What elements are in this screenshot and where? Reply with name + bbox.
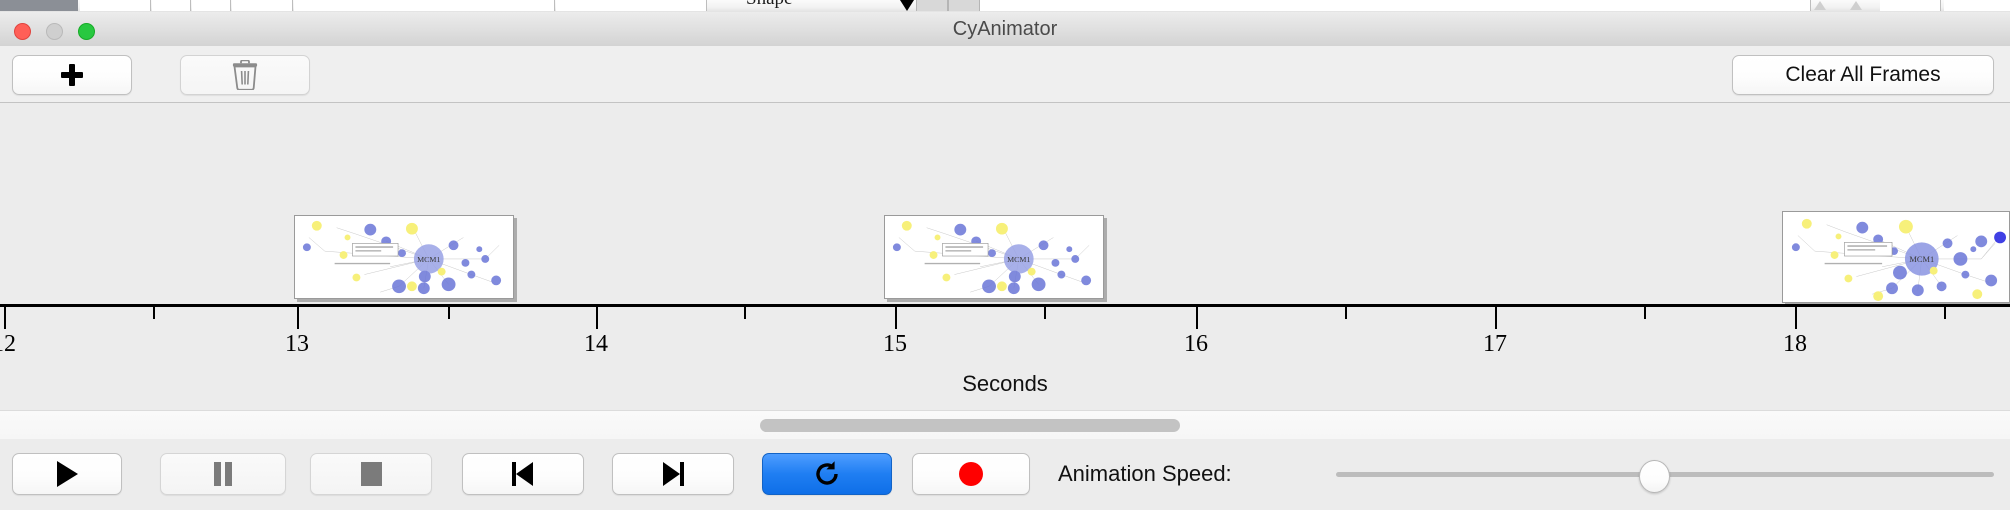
add-frame-button[interactable] [12,55,132,95]
loop-button[interactable] [762,453,892,495]
background-strip-segment [232,0,293,11]
axis-tick-label: 14 [584,331,608,358]
scrollbar-thumb[interactable] [760,419,1180,432]
axis-tick-minor [1644,307,1646,319]
timeline-axis-line [0,304,2010,307]
background-cursor-arrow [900,0,914,11]
skip-to-end-button[interactable] [612,453,734,495]
background-strip-segment [980,0,1811,11]
play-button[interactable] [12,453,122,495]
axis-tick-label: 17 [1483,331,1507,358]
background-strip-button [916,0,948,11]
background-strip-segment [556,0,707,11]
timeline-panel[interactable]: MCM1 [0,103,2010,410]
background-window-titlebar-chunk [0,0,78,11]
axis-title: Seconds [0,371,2010,397]
toolbar: Clear All Frames [0,46,2010,103]
background-strip-triangle [1848,0,1864,11]
hub-node-label: MCM1 [1007,255,1030,264]
axis-tick-major [895,307,897,329]
frame-thumbnail[interactable]: MCM1 [884,215,1104,299]
titlebar: CyAnimator [0,12,2010,47]
background-strip-segment: Shape [294,0,555,11]
loop-icon [813,460,841,488]
pause-icon [213,462,233,486]
skip-forward-icon [661,462,685,486]
axis-tick-major [1495,307,1497,329]
skip-back-icon [511,462,535,486]
cyanimator-window: Shape CyAnimator [0,0,2010,510]
plus-icon [61,64,83,86]
stop-icon [361,462,382,486]
frame-thumbnail[interactable]: MCM1 [294,215,514,299]
skip-to-start-button[interactable] [462,453,584,495]
axis-tick-label: 16 [1184,331,1208,358]
record-button[interactable] [912,453,1030,495]
record-icon [959,462,983,486]
axis-tick-label: 18 [1783,331,1807,358]
trash-icon [232,60,258,90]
network-graph-preview: MCM1 [295,216,513,298]
background-strip-button [948,0,980,11]
network-graph-preview: MCM1 [1783,212,2009,302]
clear-all-frames-button[interactable]: Clear All Frames [1732,55,1994,95]
axis-tick-minor [153,307,155,319]
window-title: CyAnimator [0,12,2010,46]
timeline-scrollbar[interactable] [0,410,2010,440]
stop-button[interactable] [310,453,432,495]
axis-tick-major [1795,307,1797,329]
background-strip-segment [80,0,151,11]
background-strip-segment [192,0,231,11]
background-strip-segment [1944,0,2010,11]
play-icon [57,461,78,487]
background-strip-segment [152,0,191,11]
hub-node-label: MCM1 [417,255,440,264]
axis-tick-label: 13 [285,331,309,358]
axis-tick-minor [1345,307,1347,319]
axis-tick-label: 15 [883,331,907,358]
axis-tick-label: 12 [0,331,16,358]
frame-thumbnail[interactable]: MCM1 [1782,211,2010,303]
animation-speed-label: Animation Speed: [1058,453,1232,495]
axis-tick-minor [1944,307,1946,319]
axis-tick-major [596,307,598,329]
axis-tick-minor [1044,307,1046,319]
background-strip-triangle [1812,0,1828,11]
axis-tick-minor [448,307,450,319]
hub-node-label: MCM1 [1909,255,1934,264]
axis-tick-major [297,307,299,329]
axis-tick-major [1196,307,1198,329]
background-strip-segment [1880,0,1941,11]
axis-tick-major [4,307,6,329]
delete-frame-button[interactable] [180,55,310,95]
background-window-label: Shape [746,0,792,10]
animation-speed-slider-thumb[interactable] [1639,460,1670,493]
transport-bar: Animation Speed: [0,439,2010,510]
axis-tick-minor [744,307,746,319]
pause-button[interactable] [160,453,286,495]
network-graph-preview: MCM1 [885,216,1103,298]
